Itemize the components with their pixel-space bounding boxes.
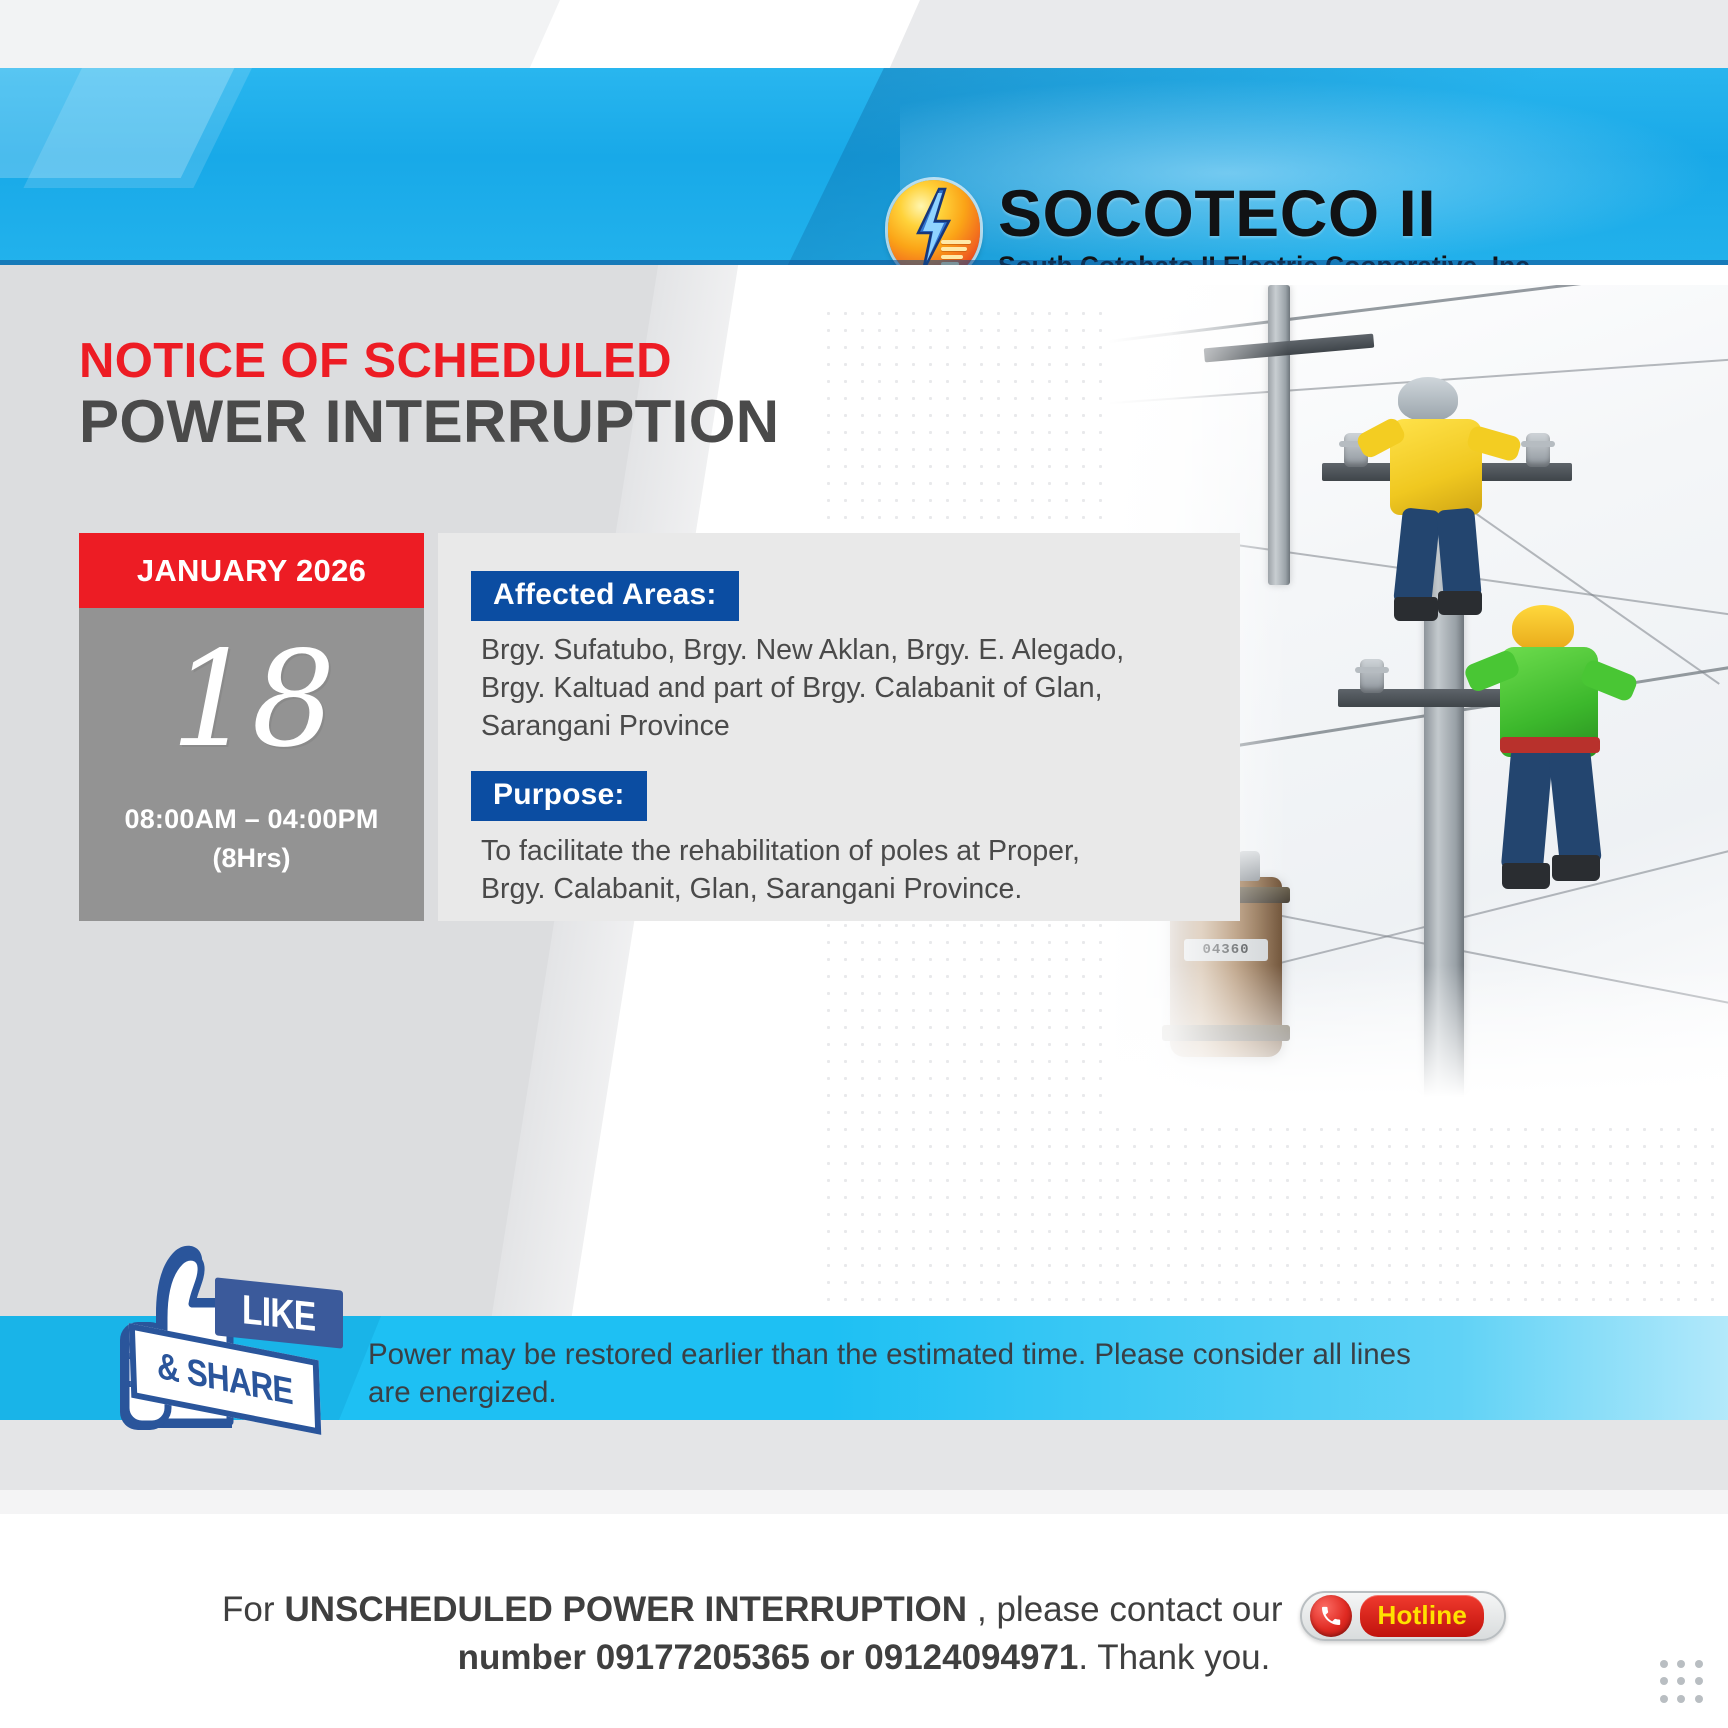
below-banner-strip-2 bbox=[0, 1490, 1728, 1514]
like-and-share-badge[interactable]: LIKE & SHARE bbox=[112, 1222, 342, 1452]
footer-emphasis-1: UNSCHEDULED POWER INTERRUPTION bbox=[284, 1590, 967, 1630]
top-strip-white-shape bbox=[530, 0, 920, 68]
date-duration: (8Hrs) bbox=[212, 843, 290, 874]
affected-areas-text: Brgy. Sufatubo, Brgy. New Aklan, Brgy. E… bbox=[481, 632, 1211, 746]
details-panel: Affected Areas: Brgy. Sufatubo, Brgy. Ne… bbox=[438, 533, 1240, 921]
purpose-label: Purpose: bbox=[471, 771, 647, 821]
footer-line-1: For UNSCHEDULED POWER INTERRUPTION, plea… bbox=[0, 1585, 1728, 1635]
phone-handset-icon bbox=[1310, 1595, 1352, 1637]
org-name: SOCOTECO II bbox=[998, 180, 1537, 246]
date-month-year: JANUARY 2026 bbox=[79, 533, 424, 608]
hotline-badge[interactable]: Hotline bbox=[1300, 1591, 1506, 1641]
schedule-date-card: JANUARY 2026 18 08:00AM – 04:00PM (8Hrs) bbox=[79, 533, 424, 921]
footer-emphasis-2: number 09177205365 or 09124094971 bbox=[458, 1638, 1079, 1677]
page-title-line2: POWER INTERRUPTION bbox=[79, 392, 780, 452]
affected-areas-label: Affected Areas: bbox=[471, 571, 739, 621]
footer-tail: . Thank you. bbox=[1078, 1638, 1270, 1677]
purpose-text: To facilitate the rehabilitation of pole… bbox=[481, 833, 1211, 909]
brand-header: SOCOTECO II South Cotabato II Electric C… bbox=[0, 68, 1728, 265]
top-decorative-strip bbox=[0, 0, 1728, 68]
top-strip-grey-shape bbox=[830, 0, 1728, 68]
share-label: & SHARE bbox=[157, 1345, 294, 1414]
logo-lines bbox=[941, 240, 971, 265]
date-day-number: 18 bbox=[171, 634, 333, 766]
banner-note-text: Power may be restored earlier than the e… bbox=[368, 1336, 1628, 1413]
date-time-range: 08:00AM – 04:00PM bbox=[124, 804, 378, 835]
corner-dot-decoration bbox=[1660, 1660, 1706, 1706]
lightning-bolt-logo-icon bbox=[888, 180, 980, 265]
like-label: LIKE bbox=[242, 1286, 315, 1341]
power-interruption-poster: SOCOTECO II South Cotabato II Electric C… bbox=[0, 0, 1728, 1728]
footer-lead: For bbox=[222, 1590, 275, 1630]
footer-mid: , please contact our bbox=[977, 1590, 1282, 1630]
hotline-label: Hotline bbox=[1360, 1595, 1484, 1637]
page-title-line1: NOTICE OF SCHEDULED bbox=[79, 337, 672, 386]
org-tagline: South Cotabato II Electric Cooperative, … bbox=[998, 253, 1537, 265]
footer-line-2: number 09177205365 or 09124094971. Thank… bbox=[0, 1638, 1728, 1678]
brand-logo: SOCOTECO II South Cotabato II Electric C… bbox=[888, 180, 1537, 265]
